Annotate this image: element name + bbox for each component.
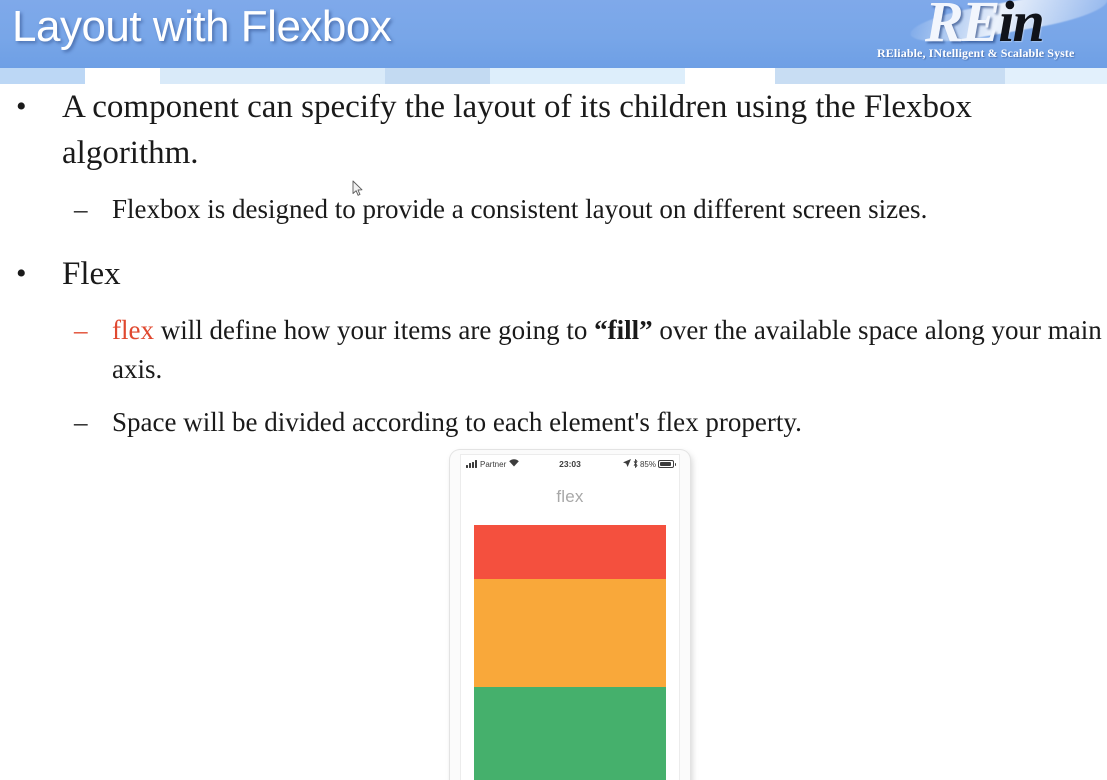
flex-box-orange xyxy=(474,579,666,687)
decorative-band xyxy=(0,68,1107,84)
band-block-6 xyxy=(775,68,1005,84)
bullet-item-1: • A component can specify the layout of … xyxy=(0,84,1107,176)
bullet-item-2: • Flex xyxy=(0,251,1107,297)
bullet-marker: • xyxy=(16,251,27,297)
band-block-7 xyxy=(1005,68,1107,84)
rein-logo: REin REliable, INtelligent & Scalable Sy… xyxy=(849,0,1107,68)
phone-mockup: Partner 23:03 85% flex xyxy=(450,450,690,780)
flex-box-green xyxy=(474,687,666,780)
phone-screen: Partner 23:03 85% flex xyxy=(461,455,679,780)
status-bar-right: 85% xyxy=(623,459,674,470)
bullet-text: A component can specify the layout of it… xyxy=(62,89,972,171)
flex-demo-container xyxy=(474,525,666,780)
slide-canvas: Layout with Flexbox REin REliable, INtel… xyxy=(0,0,1107,780)
slide-content: • A component can specify the layout of … xyxy=(0,84,1107,442)
sub-bullet-item-3: – Space will be divided according to eac… xyxy=(0,403,1107,442)
slide-header: Layout with Flexbox REin REliable, INtel… xyxy=(0,0,1107,68)
band-block-1 xyxy=(85,68,160,84)
sub-bullet-marker: – xyxy=(74,403,88,442)
sub-bullet-text: Flexbox is designed to provide a consist… xyxy=(112,194,927,224)
sub-bullet-item-2: – flex will define how your items are go… xyxy=(0,311,1107,389)
location-arrow-icon xyxy=(623,459,631,469)
sub-bullet-marker: – xyxy=(74,311,88,350)
bullet-marker: • xyxy=(16,84,27,130)
sub-bullet-text: flex will define how your items are goin… xyxy=(112,315,1102,384)
keyword-flex: flex xyxy=(112,315,154,345)
band-block-2 xyxy=(160,68,385,84)
keyword-fill: “fill” xyxy=(594,315,653,345)
sub-bullet-item-1: – Flexbox is designed to provide a consi… xyxy=(0,190,1107,229)
page-title: Layout with Flexbox xyxy=(12,2,391,52)
sub-bullet-text-mid: will define how your items are going to xyxy=(154,315,594,345)
logo-tagline: REliable, INtelligent & Scalable Syste xyxy=(877,46,1074,61)
sub-bullet-marker: – xyxy=(74,190,88,229)
bullet-text: Flex xyxy=(62,256,121,292)
band-block-0 xyxy=(0,68,85,84)
band-block-3 xyxy=(385,68,490,84)
band-block-5 xyxy=(685,68,775,84)
band-block-4 xyxy=(490,68,685,84)
phone-status-bar: Partner 23:03 85% xyxy=(461,455,679,473)
phone-app-title: flex xyxy=(461,473,679,507)
battery-icon xyxy=(658,460,674,468)
flex-box-red xyxy=(474,525,666,579)
sub-bullet-text: Space will be divided according to each … xyxy=(112,407,802,437)
bluetooth-icon xyxy=(633,459,638,470)
battery-percent-label: 85% xyxy=(640,460,656,469)
